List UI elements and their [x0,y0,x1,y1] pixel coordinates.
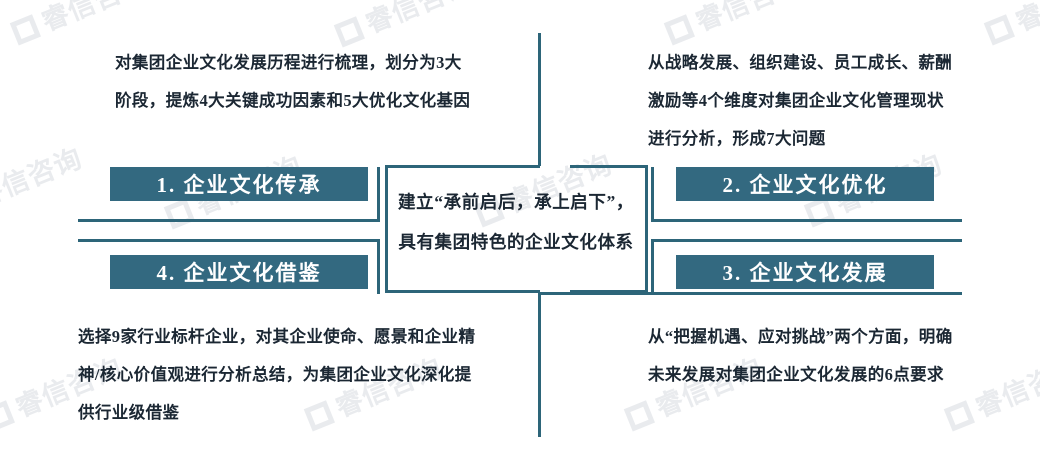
center-frame-right [645,165,648,292]
watermark-square-icon [0,400,15,431]
quadrant-header-label-3: 3. 企业文化发展 [723,257,888,287]
center-statement: 建立“承前启后，承上启下”，具有集团特色的企业文化体系 [398,182,634,262]
watermark-text: 睿信咨询 [0,143,87,214]
center-frame-top-right [570,165,648,168]
watermark: 睿信咨询 [6,0,153,50]
connector-right-upper [651,219,962,222]
watermark-square-icon [624,400,655,431]
quadrant-description-3: 从“把握机遇、应对挑战”两个方面，明确未来发展对集团企业文化发展的6点要求 [648,318,958,394]
watermark-text: 睿信咨询 [37,0,152,38]
quadrant-header-label-4: 4. 企业文化借鉴 [157,257,322,287]
watermark-square-icon [664,14,695,45]
quadrant-header-label-2: 2. 企业文化优化 [723,169,888,199]
watermark-text: 睿信咨询 [691,0,806,38]
watermark: 睿信咨询 [980,0,1040,50]
connector-left-lower [78,239,380,242]
connector-left-upper-cap [377,167,380,222]
watermark: 睿信咨询 [660,0,807,50]
watermark-text: 睿信咨询 [1011,0,1040,38]
watermark-square-icon [984,14,1015,45]
connector-left-lower-cap [377,239,380,294]
connector-left-upper [78,219,380,222]
watermark: 睿信咨询 [0,136,87,226]
watermark-square-icon [164,198,195,229]
watermark-square-icon [10,14,41,45]
watermark-text: 睿信咨询 [971,353,1040,424]
center-frame-bottom-left [385,290,540,293]
divider-bottom-center-vertical [538,292,541,437]
quadrant-description-1: 对集团企业文化发展历程进行梳理，划分为3大阶段，提炼4大关键成功因素和5大优化文… [115,44,475,120]
quadrant-description-4: 选择9家行业标杆企业，对其企业使命、愿景和企业精神/核心价值观进行分析总结，为集… [78,318,478,432]
quadrant-header-4[interactable]: 4. 企业文化借鉴 [110,255,368,289]
quadrant-header-3[interactable]: 3. 企业文化发展 [676,255,934,289]
watermark-square-icon [334,16,365,47]
watermark-square-icon [944,400,975,431]
quadrant-header-1[interactable]: 1. 企业文化传承 [110,167,368,201]
connector-right-lower [651,239,962,242]
center-frame-top-left [385,165,540,168]
diagram-canvas: 睿信咨询 睿信咨询 睿信咨询 睿信咨询 睿信咨询 睿信咨询 睿信咨询 睿信咨询 … [0,0,1040,455]
rail-bottom-right [538,292,962,295]
quadrant-header-label-1: 1. 企业文化传承 [157,169,322,199]
quadrant-header-2[interactable]: 2. 企业文化优化 [676,167,934,201]
watermark-text: 睿信咨询 [361,0,476,40]
center-frame-left [385,165,388,292]
divider-top-center-vertical [538,33,541,166]
connector-right-lower-cap [651,239,654,294]
connector-right-upper-cap [651,167,654,222]
quadrant-description-2: 从战略发展、组织建设、员工成长、薪酬激励等4个维度对集团企业文化管理现状进行分析… [648,44,958,158]
